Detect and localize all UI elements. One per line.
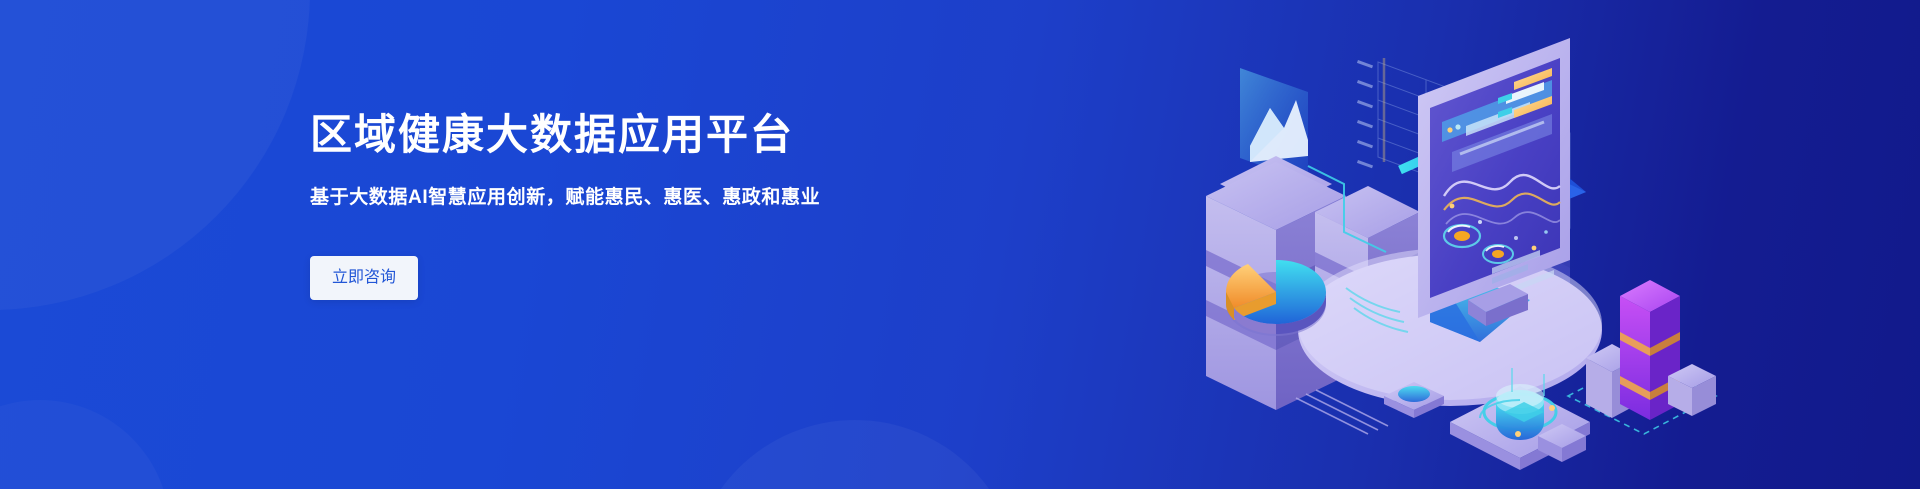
decorative-circle-bottom-left: [0, 400, 170, 489]
banner-content: 区域健康大数据应用平台 基于大数据AI智慧应用创新，赋能惠民、惠医、惠政和惠业 …: [310, 108, 1010, 300]
page-subtitle: 基于大数据AI智慧应用创新，赋能惠民、惠医、惠政和惠业: [310, 184, 1010, 213]
hero-banner: 区域健康大数据应用平台 基于大数据AI智慧应用创新，赋能惠民、惠医、惠政和惠业 …: [0, 0, 1920, 489]
pie-chart-3d: [1226, 260, 1326, 336]
consult-now-button[interactable]: 立即咨询: [310, 256, 418, 300]
isometric-data-analytics-illustration: [1100, 0, 1920, 489]
grid-axis-ticks: [1357, 58, 1384, 168]
connector-lines: [1296, 390, 1388, 434]
page-title: 区域健康大数据应用平台: [310, 108, 1010, 162]
decorative-circle-top-left: [0, 0, 310, 310]
decorative-circle-bottom-center: [690, 420, 1020, 489]
